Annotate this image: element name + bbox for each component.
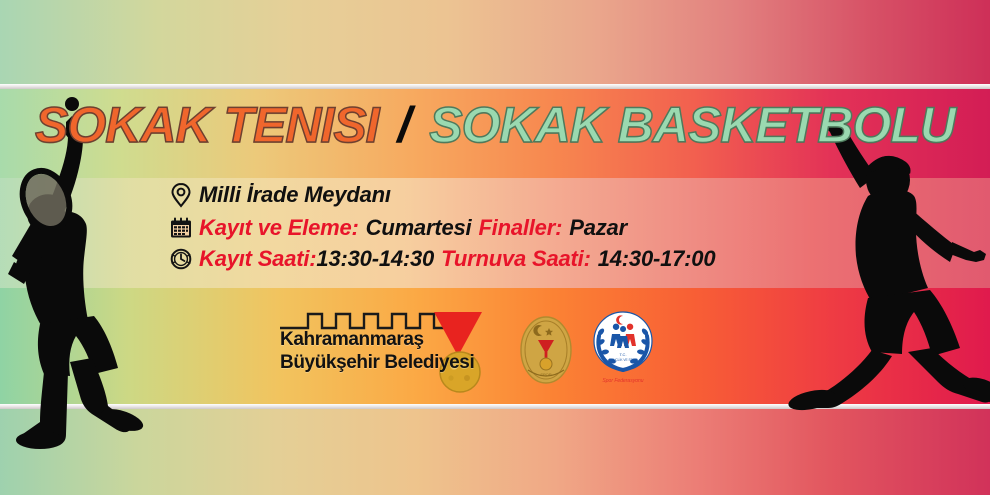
- background-band-top: [0, 0, 990, 85]
- registration-time-value: 13:30-14:30: [316, 246, 434, 272]
- background-band-bottom: [0, 409, 990, 495]
- info-line-venue: Milli İrade Meydanı: [168, 178, 868, 212]
- event-info-block: Milli İrade Meydanı: [168, 178, 868, 274]
- clock-icon: [168, 246, 194, 272]
- municipality-line-2: Büyükşehir Belediyesi: [280, 351, 474, 374]
- registration-label: Kayıt ve Eleme:: [199, 215, 359, 241]
- info-line-times: Kayıt Saati:13:30-14:30Turnuva Saati:14:…: [168, 243, 868, 274]
- title-part-basketball-post: LU: [890, 97, 955, 153]
- info-line-schedule: Kayıt ve Eleme:CumartesiFinaller:Pazar: [168, 212, 868, 243]
- svg-text:T.C.: T.C.: [619, 352, 626, 357]
- finals-day: Pazar: [569, 215, 627, 241]
- registration-day: Cumartesi: [366, 215, 472, 241]
- title-part-tennis: SOKAK TENISI: [35, 97, 379, 153]
- poster-title: SOKAK TENISI / SOKAK BASKETBOLU: [0, 100, 990, 150]
- registration-time-label: Kayıt Saati:: [199, 246, 316, 272]
- tournament-time-label: Turnuva Saati:: [441, 246, 591, 272]
- tournament-time-value: 14:30-17:00: [598, 246, 716, 272]
- municipality-line-1: Kahramanmaraş: [280, 328, 474, 351]
- venue-text: Milli İrade Meydanı: [199, 182, 391, 208]
- spor-federasyonu-logo: T.C. GENÇLİK VE SPOR Spor Federasyonu: [592, 308, 654, 386]
- genclik-ve-spor-bakanligi-logo: SPOR: [518, 314, 574, 386]
- title-separator: /: [391, 97, 416, 153]
- svg-text:SPOR: SPOR: [540, 372, 551, 377]
- calendar-icon: [168, 215, 194, 241]
- logo-row: Kahramanmaraş Büyükşehir Belediyesi SPOR: [278, 300, 654, 386]
- basketball-letter-o-icon: O: [852, 100, 890, 150]
- kahramanmaras-buyuksehir-belediyesi-logo: Kahramanmaraş Büyükşehir Belediyesi: [278, 300, 500, 386]
- location-pin-icon: [168, 182, 194, 208]
- municipality-name: Kahramanmaraş Büyükşehir Belediyesi: [280, 328, 474, 374]
- svg-text:Spor Federasyonu: Spor Federasyonu: [602, 378, 643, 384]
- title-part-basketball-pre: SOKAK BASKETB: [429, 97, 852, 153]
- poster-banner: SOKAK TENISI / SOKAK BASKETBOLU Milli İr…: [0, 0, 990, 495]
- svg-text:GENÇLİK VE SPOR: GENÇLİK VE SPOR: [608, 357, 638, 362]
- finals-label: Finaller:: [478, 215, 562, 241]
